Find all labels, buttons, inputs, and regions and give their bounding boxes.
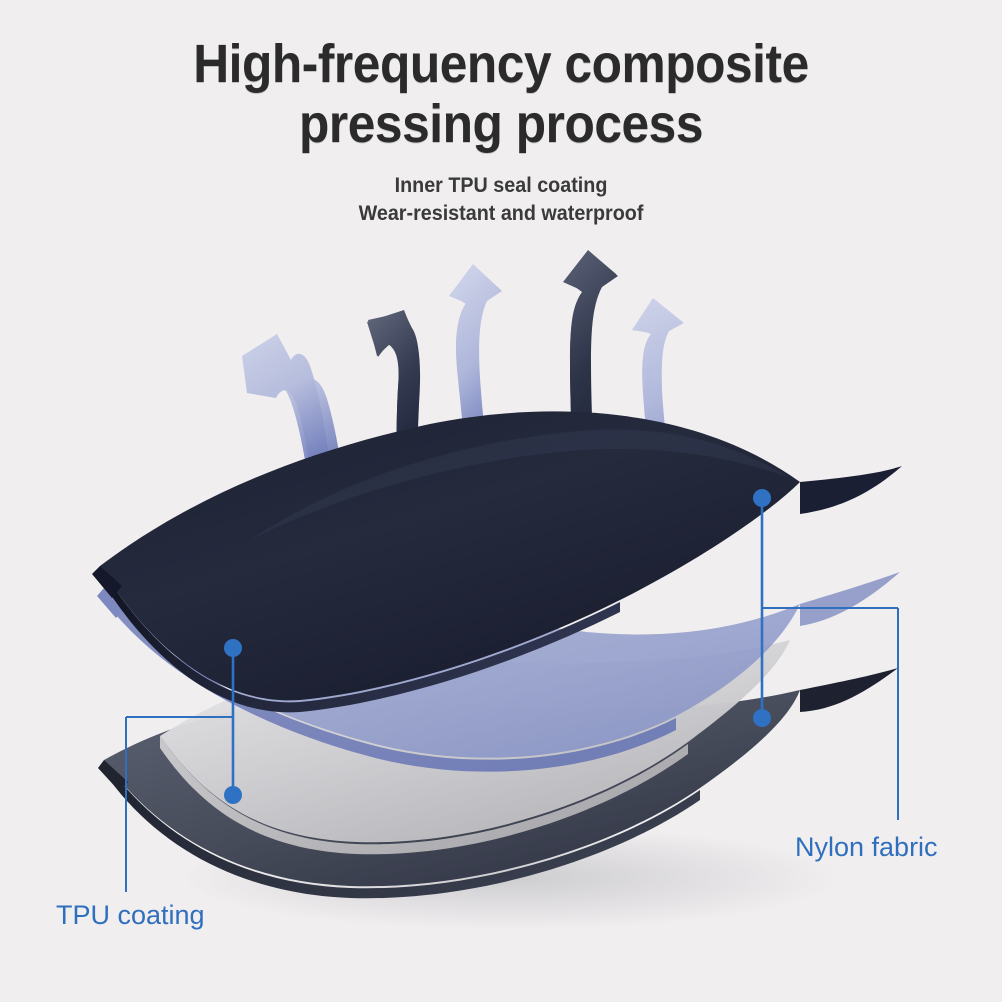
- callout-dot-tpu-lower[interactable]: [224, 786, 242, 804]
- callout-dot-nylon-upper[interactable]: [753, 489, 771, 507]
- infographic-poster: High-frequency composite pressing proces…: [0, 0, 1002, 1002]
- callout-dot-nylon-lower[interactable]: [753, 709, 771, 727]
- callout-dot-tpu-upper[interactable]: [224, 639, 242, 657]
- callout-label-tpu-coating: TPU coating: [56, 900, 205, 931]
- callout-label-nylon-fabric: Nylon fabric: [795, 832, 938, 863]
